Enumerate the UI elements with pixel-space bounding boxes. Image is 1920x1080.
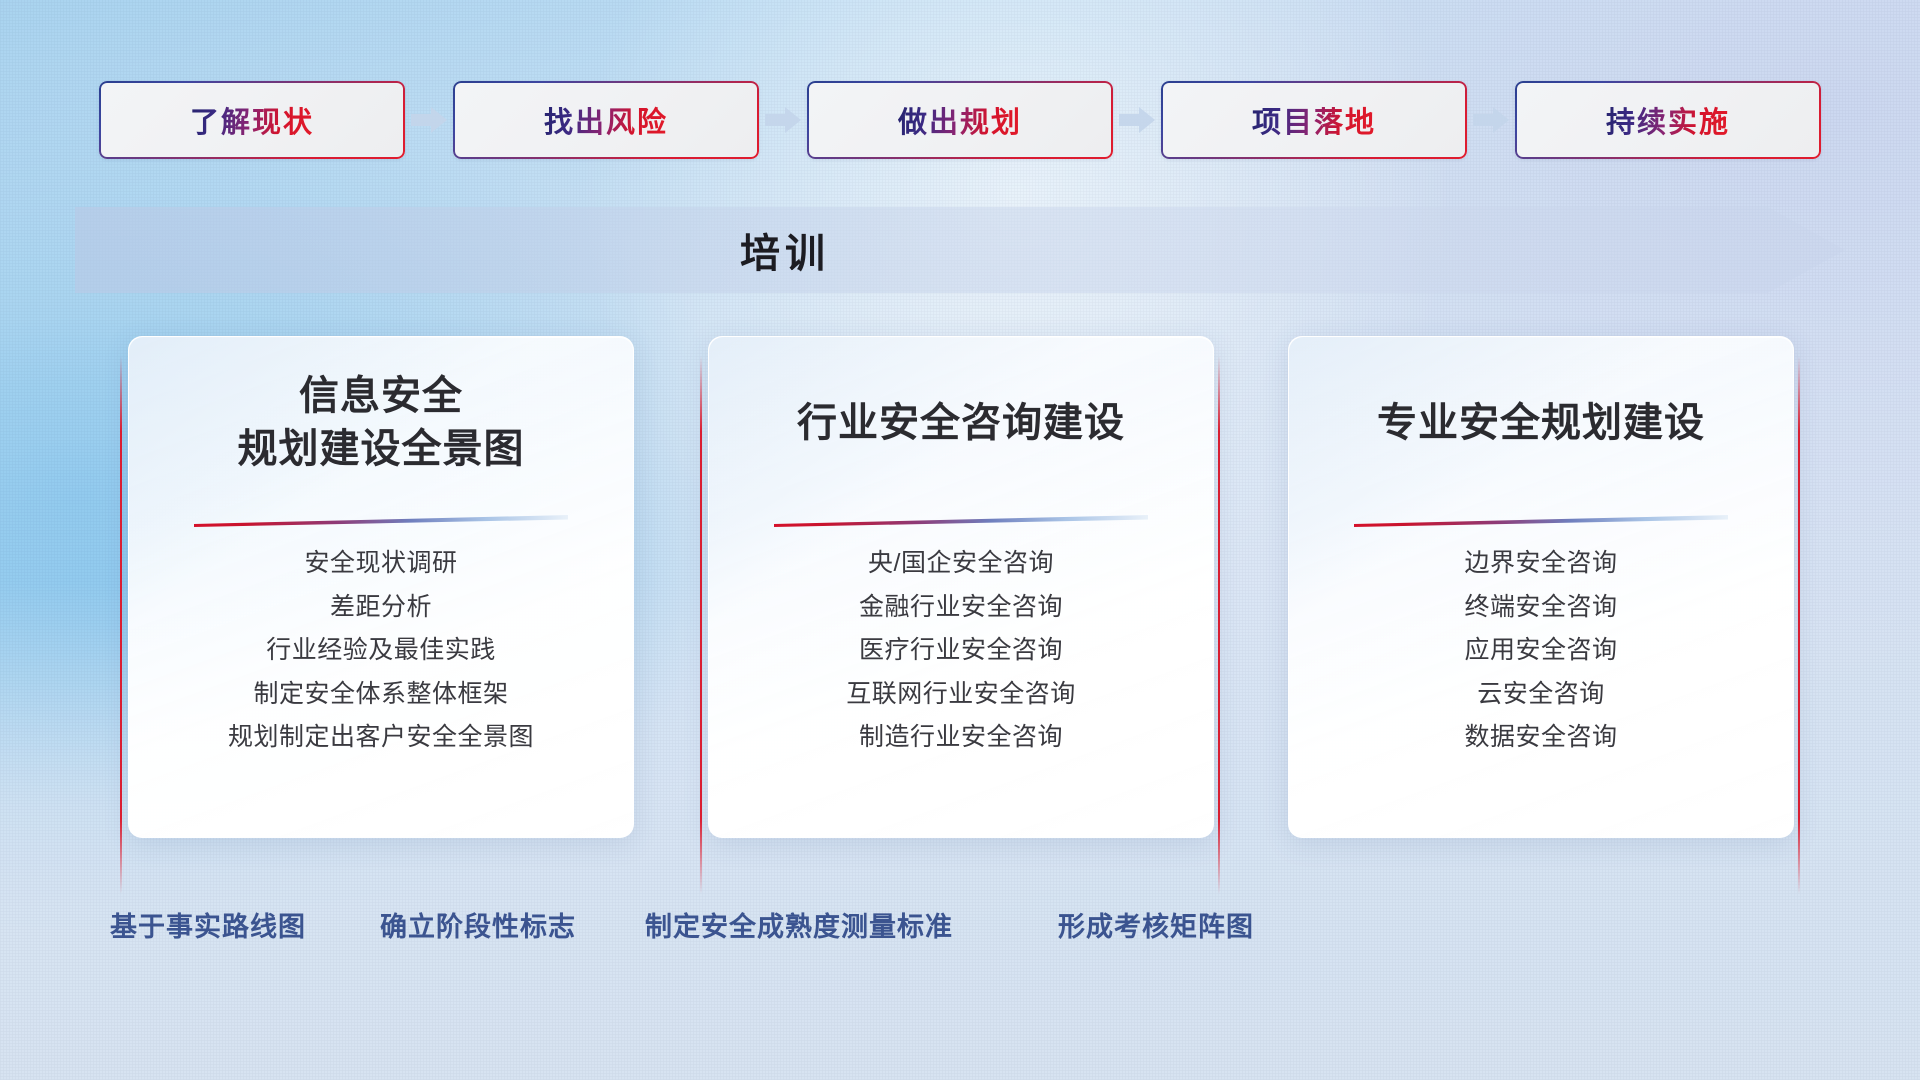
step-connector-1 — [405, 81, 453, 159]
right-arrow-icon — [1471, 105, 1511, 135]
step-label-4: 项目落地 — [1252, 99, 1376, 141]
card-title-2: 行业安全咨询建设 — [709, 343, 1213, 503]
card-wrap-1: 信息安全 规划建设全景图 安全现状调研 差 — [120, 336, 640, 876]
card-list-2: 央/国企安全咨询 金融行业安全咨询 医疗行业安全咨询 互联网行业安全咨询 制造行… — [709, 547, 1213, 754]
step-connector-3 — [1113, 81, 1161, 159]
card-list-3: 边界安全咨询 终端安全咨询 应用安全咨询 云安全咨询 数据安全咨询 — [1289, 547, 1793, 754]
process-step-flow: 了解现状 找出风险 做出规划 项目落地 持续实施 — [0, 78, 1920, 162]
card-title-line-1: 专业安全规划建设 — [1289, 399, 1793, 447]
card-title-3: 专业安全规划建设 — [1289, 343, 1793, 503]
list-item: 医疗行业安全咨询 — [709, 634, 1213, 667]
list-item: 互联网行业安全咨询 — [709, 678, 1213, 711]
card-list-1: 安全现状调研 差距分析 行业经验及最佳实践 制定安全体系整体框架 规划制定出客户… — [129, 547, 633, 754]
list-item: 规划制定出客户安全全景图 — [129, 721, 633, 754]
list-item: 安全现状调研 — [129, 547, 633, 580]
card-3[interactable]: 专业安全规划建设 边界安全咨询 终端安全咨询 — [1288, 336, 1794, 838]
step-box-3[interactable]: 做出规划 — [807, 81, 1113, 159]
card-accent-right-2 — [1218, 356, 1220, 894]
list-item: 制定安全体系整体框架 — [129, 678, 633, 711]
caption-4: 形成考核矩阵图 — [1058, 905, 1254, 944]
step-box-2[interactable]: 找出风险 — [453, 81, 759, 159]
step-connector-2 — [759, 81, 807, 159]
step-connector-4 — [1467, 81, 1515, 159]
card-wrap-2: 行业安全咨询建设 央/国企安全咨询 金融行业安全咨询 — [700, 336, 1220, 876]
caption-2: 确立阶段性标志 — [380, 905, 576, 944]
card-title-1: 信息安全 规划建设全景图 — [129, 343, 633, 503]
step-label-1: 了解现状 — [190, 99, 314, 141]
card-accent-left-1 — [120, 356, 122, 894]
card-group: 信息安全 规划建设全景图 安全现状调研 差 — [0, 336, 1920, 876]
card-accent-left-2 — [700, 356, 702, 894]
card-2[interactable]: 行业安全咨询建设 央/国企安全咨询 金融行业安全咨询 — [708, 336, 1214, 838]
caption-3: 制定安全成熟度测量标准 — [645, 905, 953, 944]
list-item: 差距分析 — [129, 591, 633, 624]
list-item: 应用安全咨询 — [1289, 634, 1793, 667]
list-item: 边界安全咨询 — [1289, 547, 1793, 580]
step-box-1[interactable]: 了解现状 — [99, 81, 405, 159]
step-label-2: 找出风险 — [544, 99, 668, 141]
list-item: 行业经验及最佳实践 — [129, 634, 633, 667]
list-item: 云安全咨询 — [1289, 678, 1793, 711]
card-1[interactable]: 信息安全 规划建设全景图 安全现状调研 差 — [128, 336, 634, 838]
step-label-5: 持续实施 — [1606, 99, 1730, 141]
banner-label-wrap: 培训 — [75, 207, 1495, 293]
list-item: 数据安全咨询 — [1289, 721, 1793, 754]
right-arrow-icon — [1117, 105, 1157, 135]
card-title-line-2: 规划建设全景图 — [129, 423, 633, 476]
list-item: 终端安全咨询 — [1289, 591, 1793, 624]
right-arrow-icon — [763, 105, 803, 135]
card-title-line-1: 信息安全 — [129, 370, 633, 423]
right-arrow-icon — [409, 105, 449, 135]
card-wrap-3: 专业安全规划建设 边界安全咨询 终端安全咨询 — [1280, 336, 1800, 876]
training-banner: 培训 — [75, 207, 1845, 293]
card-title-line-1: 行业安全咨询建设 — [709, 399, 1213, 447]
list-item: 央/国企安全咨询 — [709, 547, 1213, 580]
step-label-3: 做出规划 — [898, 99, 1022, 141]
gradient-divider-icon — [194, 513, 568, 527]
banner-label: 培训 — [740, 221, 830, 279]
gradient-divider-icon — [1354, 513, 1728, 527]
card-accent-right-3 — [1798, 356, 1800, 894]
caption-1: 基于事实路线图 — [110, 905, 306, 944]
list-item: 制造行业安全咨询 — [709, 721, 1213, 754]
list-item: 金融行业安全咨询 — [709, 591, 1213, 624]
step-box-4[interactable]: 项目落地 — [1161, 81, 1467, 159]
gradient-divider-icon — [774, 513, 1148, 527]
caption-row: 基于事实路线图 确立阶段性标志 制定安全成熟度测量标准 形成考核矩阵图 — [0, 905, 1920, 975]
step-box-5[interactable]: 持续实施 — [1515, 81, 1821, 159]
